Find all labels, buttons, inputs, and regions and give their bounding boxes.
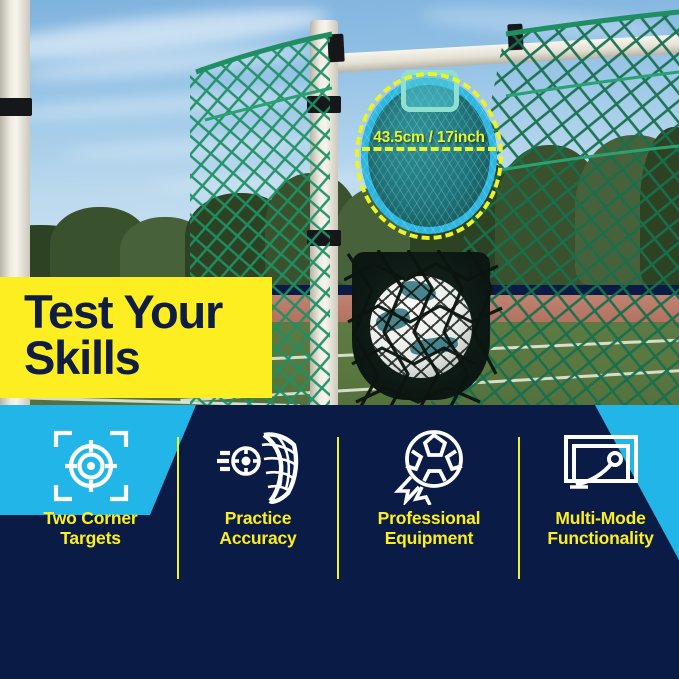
post-strap: [307, 96, 341, 113]
features-band: Two CornerTargets: [0, 405, 679, 579]
feature-divider: [177, 437, 179, 579]
headline-line-1: Test Your: [24, 285, 222, 338]
feature-label-line-1: Two Corner: [44, 508, 138, 528]
feature-two-corner-targets: Two CornerTargets: [8, 405, 173, 579]
feature-label-line-2: Targets: [60, 528, 121, 548]
tree-line: [0, 125, 679, 285]
feature-label: ProfessionalEquipment: [343, 509, 515, 548]
logo-bar: [0, 579, 679, 679]
measurement-dashed-ring-icon: [355, 72, 503, 240]
feature-divider: [518, 437, 520, 579]
headline-block: Test YourSkills: [0, 277, 272, 398]
rebound-target: 43.5cm / 17inch: [355, 72, 503, 240]
product-marketing-image: 43.5cm / 17inch Test YourSkills: [0, 0, 679, 679]
measurement-dashed-line-icon: [362, 147, 496, 151]
ball-through-net-icon: [183, 427, 333, 505]
feature-label-line-1: Professional: [378, 508, 481, 528]
feature-label-line-2: Functionality: [547, 528, 653, 548]
feature-multi-mode-functionality: Multi-ModeFunctionality: [522, 405, 679, 579]
feature-label: Multi-ModeFunctionality: [522, 509, 679, 548]
feature-label-line-1: Multi-Mode: [555, 508, 645, 528]
feature-divider: [337, 437, 339, 579]
soccer-ball: [370, 276, 472, 378]
ball-award-badge-icon: [343, 427, 515, 505]
target-dimension-label: 43.5cm / 17inch: [355, 129, 503, 147]
feature-professional-equipment: ProfessionalEquipment: [343, 405, 515, 579]
feature-practice-accuracy: PracticeAccuracy: [183, 405, 333, 579]
goal-post-left: [310, 20, 338, 407]
crossbar-strap: [507, 24, 523, 51]
crosshair-target-icon: [8, 427, 173, 505]
headline-line-2: Skills: [24, 331, 140, 384]
post-strap: [0, 98, 32, 116]
post-strap: [307, 230, 341, 246]
goal-with-ball-icon: [522, 427, 679, 505]
feature-label: PracticeAccuracy: [183, 509, 333, 548]
crossbar-strap: [327, 34, 344, 63]
feature-label-line-2: Accuracy: [219, 528, 296, 548]
feature-label-line-1: Practice: [225, 508, 292, 528]
page-title: Test YourSkills: [0, 277, 272, 381]
feature-label-line-2: Equipment: [385, 528, 474, 548]
feature-label: Two CornerTargets: [8, 509, 173, 548]
